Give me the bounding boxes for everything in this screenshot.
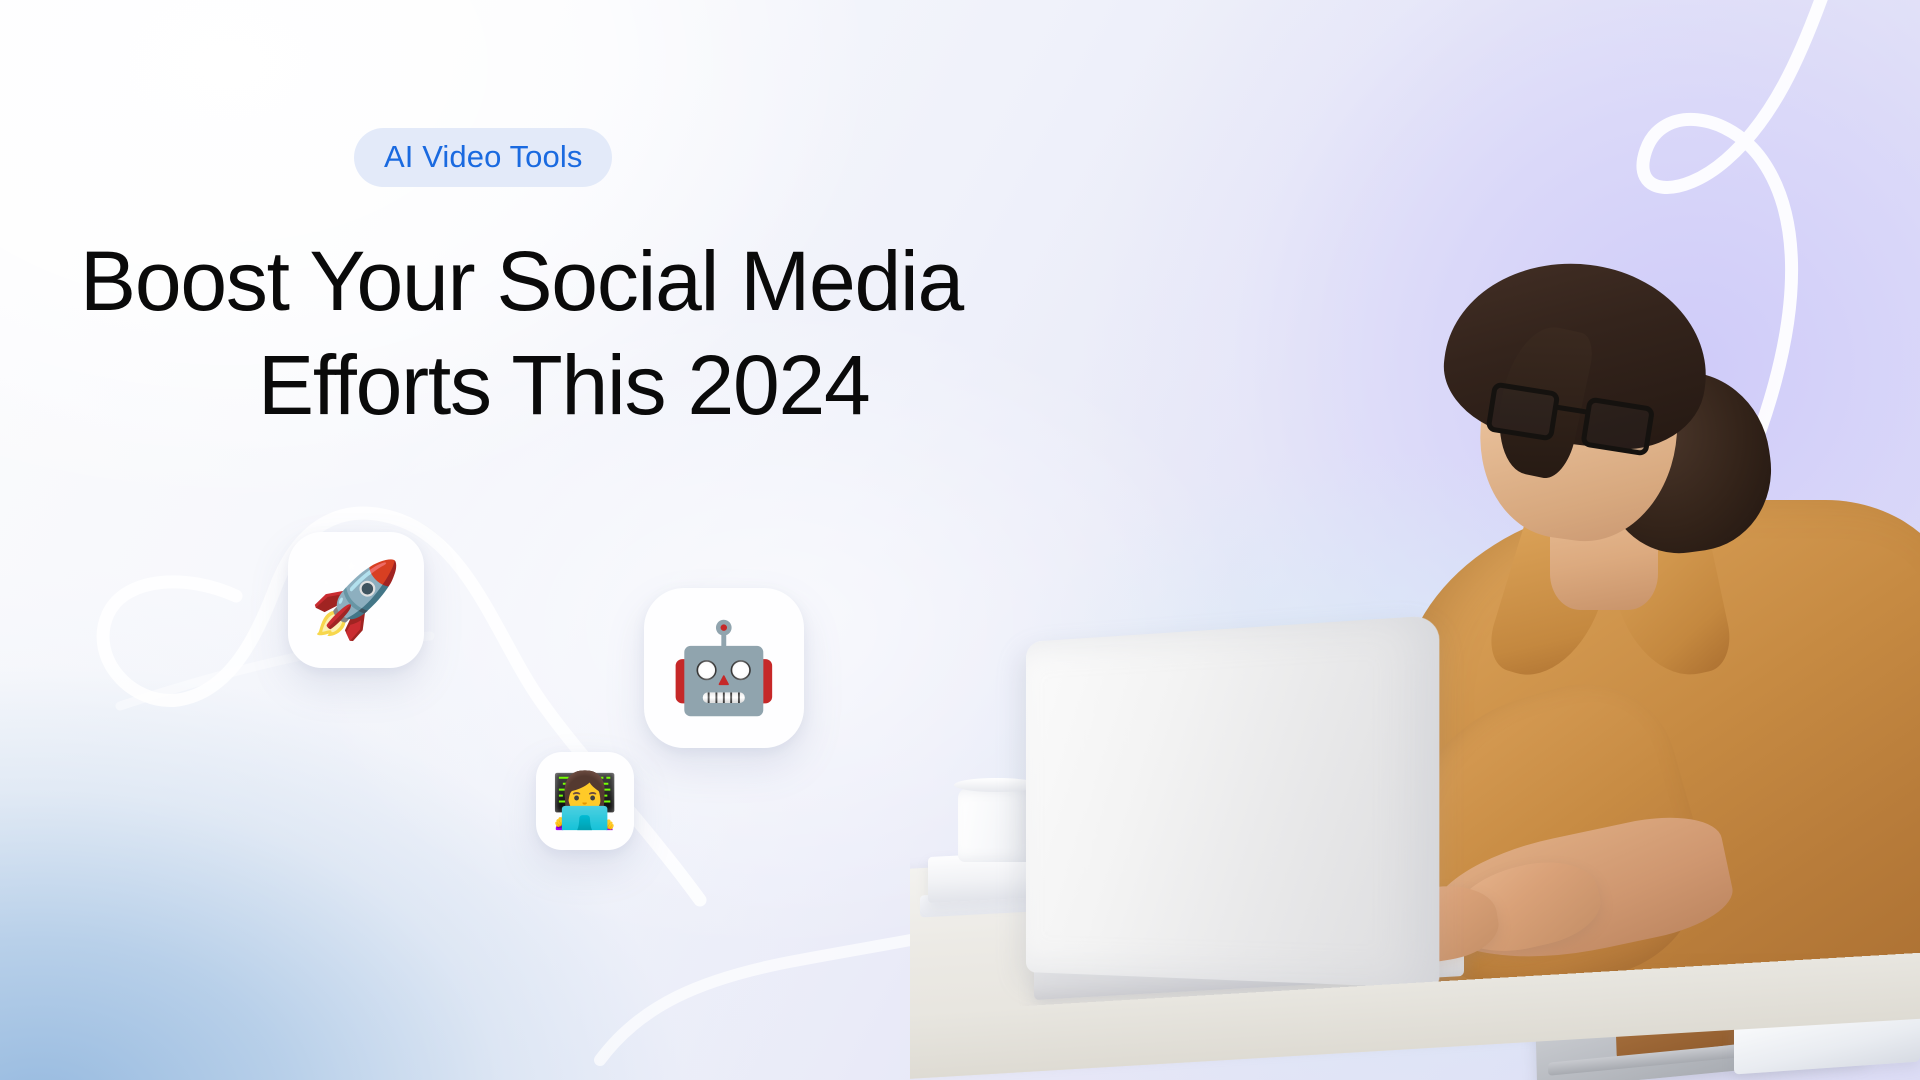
eyeglass-lens-right (1580, 397, 1655, 457)
rocket-icon: 🚀 (310, 563, 402, 637)
robot-icon: 🤖 (669, 624, 779, 712)
headline-line-1: Boost Your Social Media (78, 229, 1158, 333)
headline-line-2: Efforts This 2024 (78, 333, 1158, 437)
eyeglass-lens-left (1485, 382, 1560, 442)
hero-banner: AI Video Tools Boost Your Social Media E… (0, 0, 1920, 1080)
floating-card-rocket[interactable]: 🚀 (288, 532, 424, 668)
coffee-cup (958, 788, 1036, 862)
floating-card-technologist[interactable]: 👩‍💻 (536, 752, 634, 850)
laptop-lid (1026, 615, 1439, 988)
page-title: Boost Your Social Media Efforts This 202… (78, 187, 1158, 437)
hero-copy: AI Video Tools Boost Your Social Media E… (0, 0, 1180, 437)
woman-technologist-icon: 👩‍💻 (551, 774, 618, 828)
category-badge[interactable]: AI Video Tools (354, 128, 612, 187)
floating-card-robot[interactable]: 🤖 (644, 588, 804, 748)
